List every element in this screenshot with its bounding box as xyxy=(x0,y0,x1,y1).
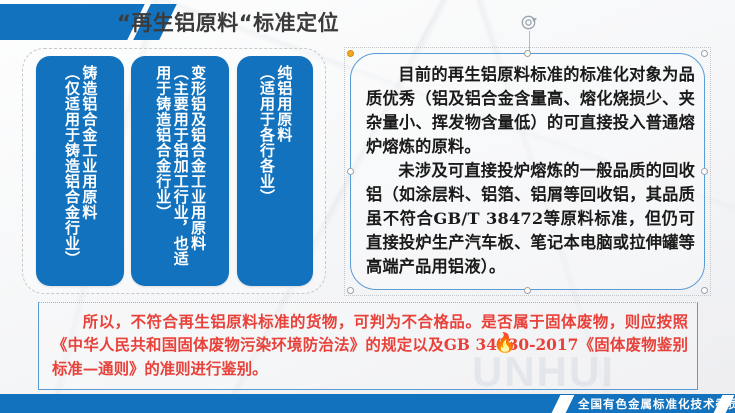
conclusion-textbox[interactable]: 所以，不符合再生铝原料标准的货物，可判为不合格品。是否属于固体废物，则应按照《中… xyxy=(38,302,698,390)
conclusion-paragraph: 所以，不符合再生铝原料标准的货物，可判为不合格品。是否属于固体废物，则应按照《中… xyxy=(52,311,688,381)
conclusion-text-content: 所以，不符合再生铝原料标准的货物，可判为不合格品。是否属于固体废物，则应按照《中… xyxy=(52,311,688,385)
card-casting-aluminium-alloy[interactable]: 铸造铝合金工业用原料 （仅适用于铸造铝合金行业） xyxy=(36,56,124,286)
card-main-label: 纯铝用原料 xyxy=(275,65,292,143)
card-pure-aluminium[interactable]: 纯铝用原料 （适用于各行各业） xyxy=(237,56,313,286)
main-textbox-paragraph-2: 未涉及可直接投炉熔炼的一般品质的回收铝（如涂层料、铝箔、铝屑等回收铝，其品质虽不… xyxy=(366,159,695,279)
selection-handle-middle-left[interactable] xyxy=(347,168,354,175)
selection-handle-bottom-center[interactable] xyxy=(524,287,531,294)
main-textbox-paragraph-1: 目前的再生铝原料标准的标准化对象为品质优秀（铝及铝合金含量高、熔化烧损少、夹杂量… xyxy=(366,63,695,159)
selection-handle-bottom-left[interactable] xyxy=(347,287,354,294)
selection-handle-top-center[interactable] xyxy=(524,50,531,57)
main-textbox-selection[interactable]: 目前的再生铝原料标准的标准化对象为品质优秀（铝及铝合金含量高、熔化烧损少、夹杂量… xyxy=(350,53,705,290)
footer-organization-label: 全国有色金属标准化技术委员会 xyxy=(578,396,735,412)
card-note-label: （仅适用于铸造铝合金行业） xyxy=(63,65,80,267)
card-main-label: 铸造铝合金工业用原料 xyxy=(80,65,97,220)
selection-handle-middle-right[interactable] xyxy=(701,168,708,175)
card-wrought-aluminium-alloy[interactable]: 变形铝及铝合金工业用原料 （主要用于铝加工行业，也适用于铸造铝合金行业） xyxy=(131,56,229,286)
card-main-label: 变形铝及铝合金工业用原料 xyxy=(189,65,206,251)
main-textbox-content: 目前的再生铝原料标准的标准化对象为品质优秀（铝及铝合金含量高、熔化烧损少、夹杂量… xyxy=(366,63,695,284)
selection-handle-bottom-right[interactable] xyxy=(701,287,708,294)
page-title: “再生铝原料“标准定位 xyxy=(117,8,339,38)
rotate-icon[interactable] xyxy=(520,13,539,32)
card-note-label: （主要用于铝加工行业，也适用于铸造铝合金行业） xyxy=(154,65,189,277)
slide-canvas: UNHUI “再生铝原料“标准定位 铸造铝合金工业用原料 （仅适用于铸造铝合金行… xyxy=(0,0,735,413)
card-note-label: （适用于各行各业） xyxy=(258,65,275,205)
selection-handle-top-right[interactable] xyxy=(701,50,708,57)
selection-handle-top-left[interactable] xyxy=(347,50,354,57)
